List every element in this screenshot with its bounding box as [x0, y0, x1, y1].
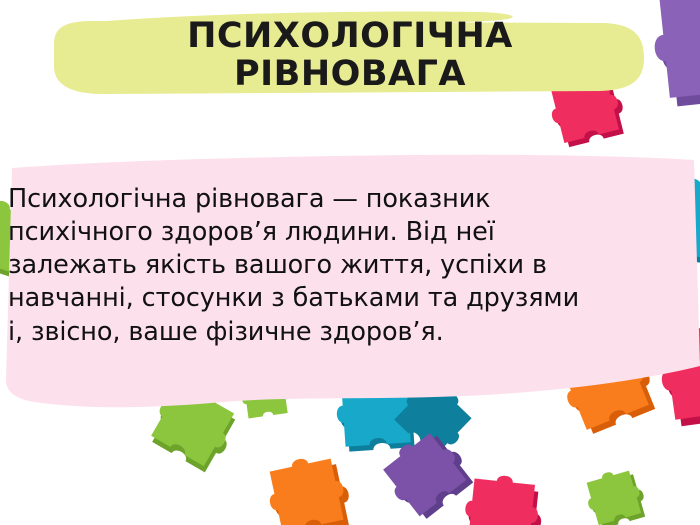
- body-line-2: психічного здоров’я людини. Від неї: [8, 216, 684, 249]
- body-paragraph: Психологічна рівновага — показник психіч…: [8, 183, 684, 349]
- green-piece-bottom-right: [581, 464, 649, 525]
- violet-piece-bottom-center: [375, 423, 478, 525]
- body-line-5: і, звісно, ваше фізичне здоров’я.: [8, 316, 684, 349]
- slide-title: ПСИХОЛОГІЧНА РІВНОВАГА: [60, 18, 640, 94]
- body-line-4: навчанні, стосунки з батьками та друзями: [8, 282, 684, 315]
- orange-piece-bottom-center: [262, 450, 355, 525]
- crimson-piece-bottom: [462, 472, 546, 525]
- body-line-1: Психологічна рівновага — показник: [8, 183, 684, 216]
- body-line-3: залежать якість вашого життя, успіхи в: [8, 249, 684, 282]
- slide-canvas: ПСИХОЛОГІЧНА РІВНОВАГА Психологічна рівн…: [0, 0, 700, 525]
- purple-piece-top-right: [649, 0, 700, 108]
